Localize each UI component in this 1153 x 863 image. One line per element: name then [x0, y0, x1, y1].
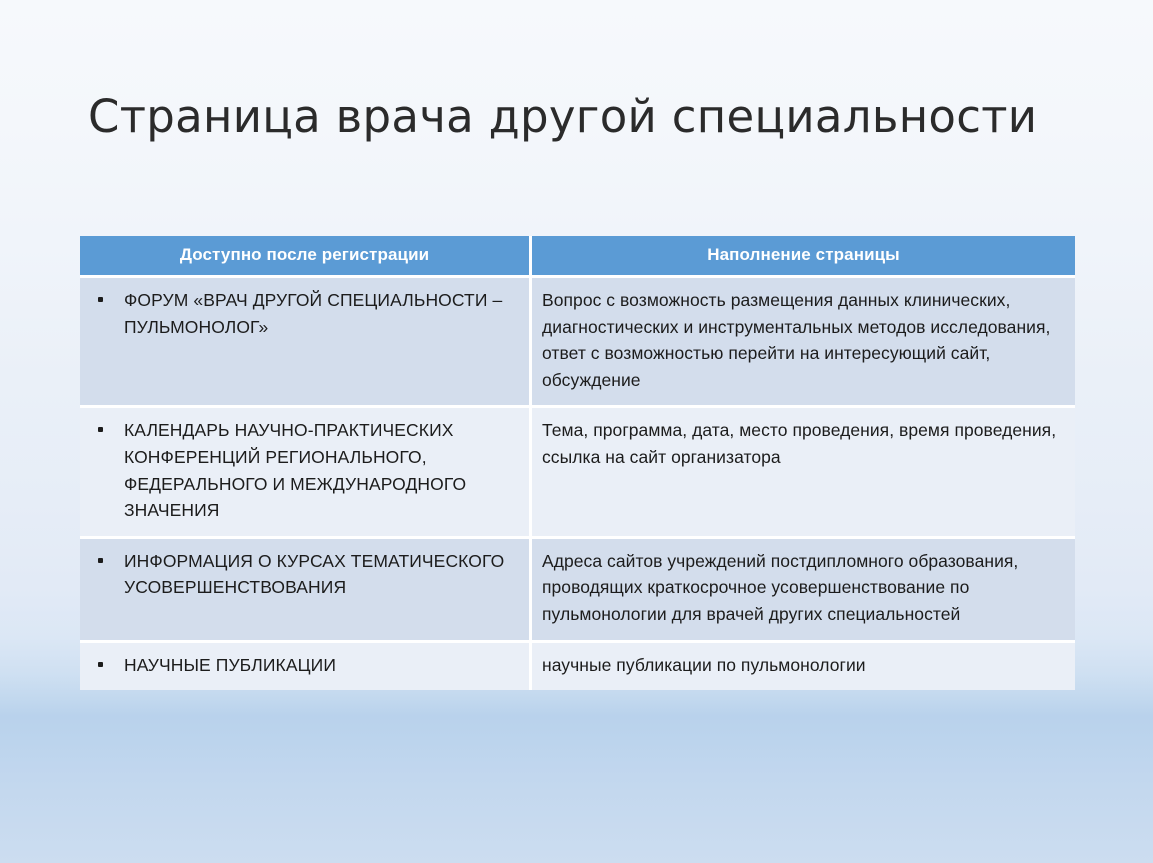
table-cell-feature: ФОРУМ «ВРАЧ ДРУГОЙ СПЕЦИАЛЬНОСТИ – ПУЛЬМ…	[80, 278, 532, 408]
table-row: КАЛЕНДАРЬ НАУЧНО-ПРАКТИЧЕСКИХ КОНФЕРЕНЦИ…	[80, 408, 1075, 538]
bullet-icon	[98, 297, 103, 302]
list-item: ФОРУМ «ВРАЧ ДРУГОЙ СПЕЦИАЛЬНОСТИ – ПУЛЬМ…	[90, 287, 519, 340]
bullet-list: КАЛЕНДАРЬ НАУЧНО-ПРАКТИЧЕСКИХ КОНФЕРЕНЦИ…	[90, 417, 519, 523]
table-row: НАУЧНЫЕ ПУБЛИКАЦИИ научные публикации по…	[80, 643, 1075, 691]
column-header-page-content: Наполнение страницы	[532, 236, 1075, 278]
content-table: Доступно после регистрации Наполнение ст…	[80, 236, 1075, 690]
table-cell-description: научные публикации по пульмонологии	[532, 643, 1075, 691]
table-cell-description: Тема, программа, дата, место проведения,…	[532, 408, 1075, 538]
list-item: ИНФОРМАЦИЯ О КУРСАХ ТЕМАТИЧЕСКОГО УСОВЕР…	[90, 548, 519, 601]
column-header-availability: Доступно после регистрации	[80, 236, 532, 278]
slide-canvas: Страница врача другой специальности Дост…	[0, 0, 1153, 863]
page-title: Страница врача другой специальности	[88, 92, 1068, 142]
list-item-label: НАУЧНЫЕ ПУБЛИКАЦИИ	[124, 655, 336, 675]
bullet-list: ФОРУМ «ВРАЧ ДРУГОЙ СПЕЦИАЛЬНОСТИ – ПУЛЬМ…	[90, 287, 519, 340]
table-row: ИНФОРМАЦИЯ О КУРСАХ ТЕМАТИЧЕСКОГО УСОВЕР…	[80, 539, 1075, 643]
bullet-icon	[98, 427, 103, 432]
list-item-label: ИНФОРМАЦИЯ О КУРСАХ ТЕМАТИЧЕСКОГО УСОВЕР…	[124, 551, 504, 598]
list-item-label: ФОРУМ «ВРАЧ ДРУГОЙ СПЕЦИАЛЬНОСТИ – ПУЛЬМ…	[124, 290, 502, 337]
bullet-icon	[98, 558, 103, 563]
table-cell-feature: НАУЧНЫЕ ПУБЛИКАЦИИ	[80, 643, 532, 691]
table-row: ФОРУМ «ВРАЧ ДРУГОЙ СПЕЦИАЛЬНОСТИ – ПУЛЬМ…	[80, 278, 1075, 408]
table-cell-feature: КАЛЕНДАРЬ НАУЧНО-ПРАКТИЧЕСКИХ КОНФЕРЕНЦИ…	[80, 408, 532, 538]
table-cell-feature: ИНФОРМАЦИЯ О КУРСАХ ТЕМАТИЧЕСКОГО УСОВЕР…	[80, 539, 532, 643]
list-item-label: КАЛЕНДАРЬ НАУЧНО-ПРАКТИЧЕСКИХ КОНФЕРЕНЦИ…	[124, 420, 466, 520]
table-cell-description: Вопрос с возможность размещения данных к…	[532, 278, 1075, 408]
list-item: НАУЧНЫЕ ПУБЛИКАЦИИ	[90, 652, 519, 679]
table-header-row: Доступно после регистрации Наполнение ст…	[80, 236, 1075, 278]
bullet-list: НАУЧНЫЕ ПУБЛИКАЦИИ	[90, 652, 519, 679]
list-item: КАЛЕНДАРЬ НАУЧНО-ПРАКТИЧЕСКИХ КОНФЕРЕНЦИ…	[90, 417, 519, 523]
bullet-icon	[98, 662, 103, 667]
table-cell-description: Адреса сайтов учреждений постдипломного …	[532, 539, 1075, 643]
bullet-list: ИНФОРМАЦИЯ О КУРСАХ ТЕМАТИЧЕСКОГО УСОВЕР…	[90, 548, 519, 601]
